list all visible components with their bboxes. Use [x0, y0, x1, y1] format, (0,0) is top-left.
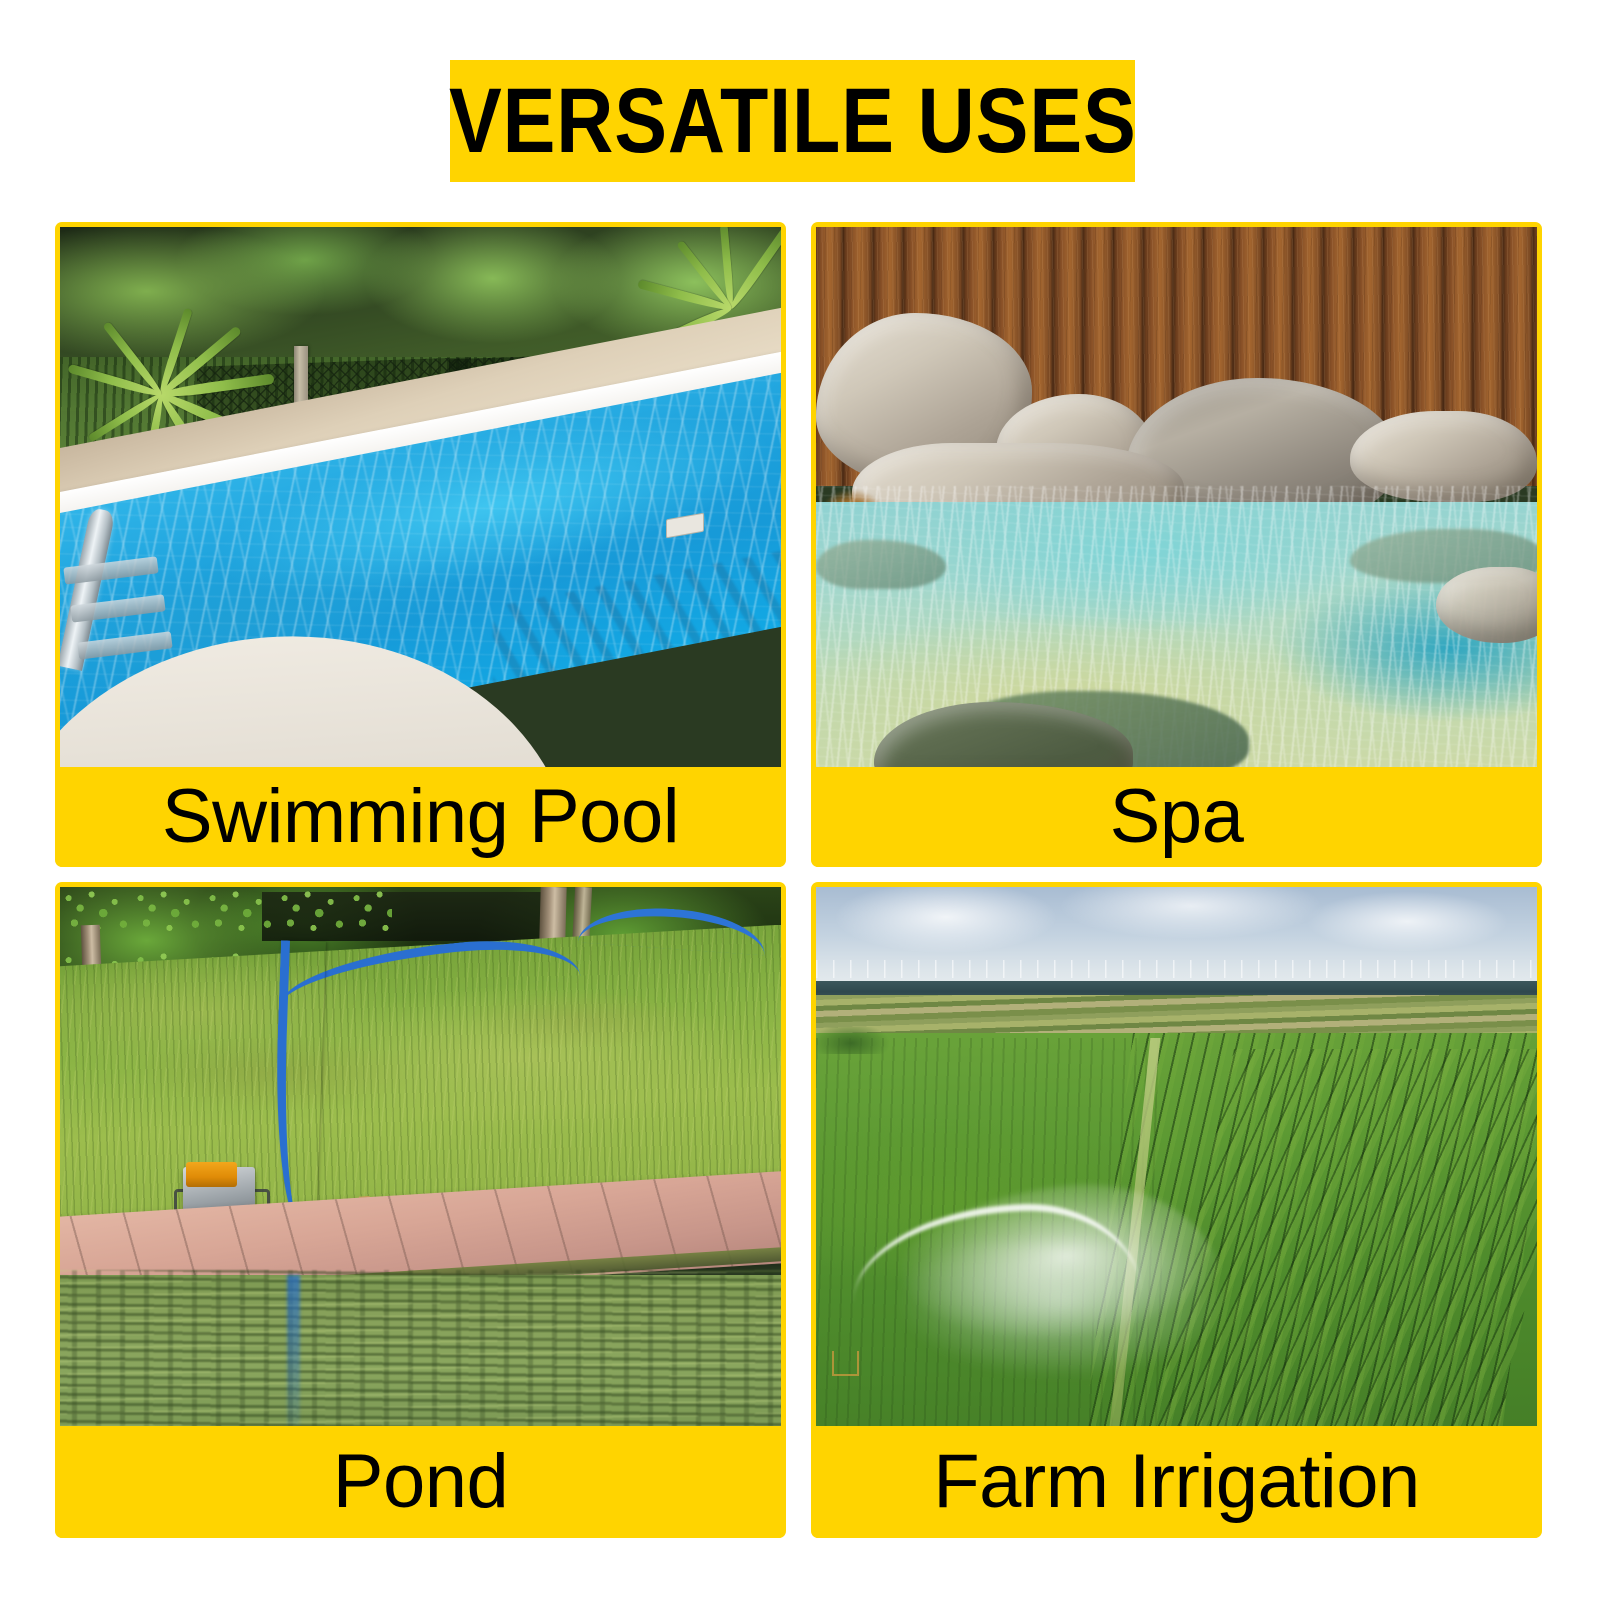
submerged-rock: [816, 540, 946, 589]
card-caption-farm-irrigation: Farm Irrigation: [816, 1426, 1537, 1538]
page-title: VERSATILE USES: [449, 75, 1137, 167]
pond-photo: [60, 887, 781, 1426]
card-caption-spa: Spa: [816, 767, 1537, 867]
pump-fuel-tank: [186, 1162, 236, 1187]
field-edge-trees: [816, 1027, 903, 1054]
use-card-pond[interactable]: Pond: [55, 882, 786, 1538]
card-caption-swimming-pool: Swimming Pool: [60, 767, 781, 867]
farm-irrigation-photo: [816, 887, 1537, 1426]
uses-grid: Swimming Pool Spa: [55, 222, 1542, 1538]
card-caption-pond: Pond: [60, 1426, 781, 1538]
use-card-spa[interactable]: Spa: [811, 222, 1542, 867]
use-card-swimming-pool[interactable]: Swimming Pool: [55, 222, 786, 867]
wind-turbines: [816, 960, 1537, 978]
title-banner: VERSATILE USES: [450, 60, 1135, 182]
pond-water-reflections: [60, 1270, 781, 1426]
swimming-pool-photo: [60, 227, 781, 767]
spa-photo: [816, 227, 1537, 767]
use-card-farm-irrigation[interactable]: Farm Irrigation: [811, 882, 1542, 1538]
distant-fields: [816, 995, 1537, 1038]
hose-reflection: [287, 1275, 300, 1426]
sprinkler-icon: [832, 1351, 859, 1377]
